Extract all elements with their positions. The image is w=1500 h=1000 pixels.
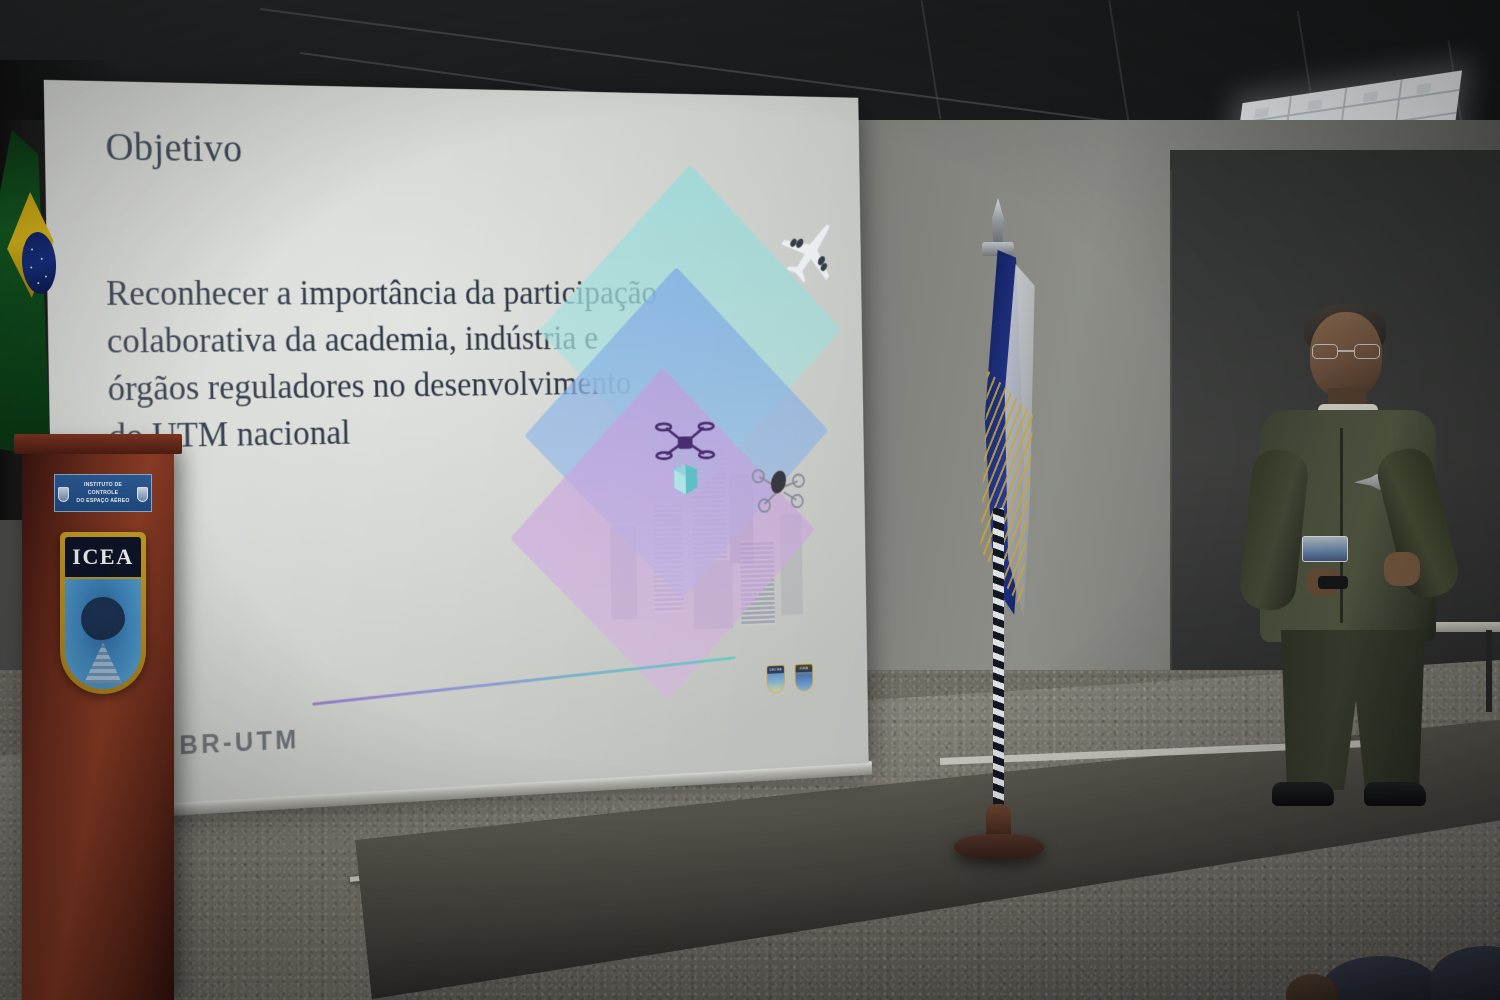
presenter-legs: [1278, 630, 1428, 790]
presenter-right-hand: [1384, 552, 1420, 586]
podium-sign-text: INSTITUTO DE CONTROLE DO ESPAÇO AÉREO: [69, 481, 137, 505]
crest-label: ICEA: [796, 664, 813, 672]
flight-suit-zipper: [1340, 428, 1343, 623]
crest-label: DECEA: [767, 666, 784, 674]
flag-pole-rod: [993, 508, 1004, 818]
podium-sign-line2: DO ESPAÇO AÉREO: [69, 497, 137, 505]
icea-crest-field: [65, 579, 141, 689]
glasses-bridge: [1338, 350, 1354, 352]
crest-label-band: DECEA: [767, 666, 784, 674]
brand-name: BR-UTM: [179, 725, 300, 762]
delivery-drone-icon: [651, 412, 719, 503]
crest-icea-icon: ICEA: [795, 663, 814, 691]
podium-sign-line1: INSTITUTO DE CONTROLE: [69, 481, 137, 497]
slide-artwork: [517, 195, 865, 707]
icea-crest: ICEA: [60, 532, 146, 694]
drone-icon: [750, 464, 807, 515]
icea-crest-emblem-icon: [81, 597, 125, 641]
airliner-icon: [775, 214, 847, 288]
podium-top-surface: [14, 434, 182, 454]
icea-crest-label: ICEA: [72, 544, 133, 570]
glasses-lens-left: [1312, 344, 1338, 359]
presentation-room-scene: Objetivo Reconhecer a importância da par…: [0, 0, 1500, 1000]
glasses-lens-right: [1354, 344, 1380, 359]
podium-sign: INSTITUTO DE CONTROLE DO ESPAÇO AÉREO: [54, 474, 152, 512]
podium: INSTITUTO DE CONTROLE DO ESPAÇO AÉREO IC…: [22, 448, 174, 1000]
presenter: [1232, 300, 1482, 810]
crest-decea-icon: DECEA: [766, 665, 785, 693]
slide-title: Objetivo: [105, 123, 243, 171]
flag-pole-base: [954, 834, 1044, 860]
wall-seam: [1170, 170, 1172, 690]
sign-crest-left-icon: [58, 487, 69, 502]
crest-label-band: ICEA: [796, 664, 813, 672]
ceremonial-flag: [962, 198, 1082, 788]
sign-crest-right-icon: [137, 487, 148, 502]
presenter-shoe-left: [1272, 782, 1334, 806]
table-leg-right: [1486, 630, 1492, 712]
slide-crests: DECEA ICEA: [766, 663, 813, 693]
glasses-icon: [1312, 344, 1382, 359]
icea-crest-band: ICEA: [65, 537, 141, 577]
presenter-shoe-right: [1364, 782, 1426, 806]
chest-patch: [1302, 536, 1348, 562]
presentation-clicker[interactable]: [1318, 576, 1348, 589]
furled-flag: [968, 250, 1044, 670]
